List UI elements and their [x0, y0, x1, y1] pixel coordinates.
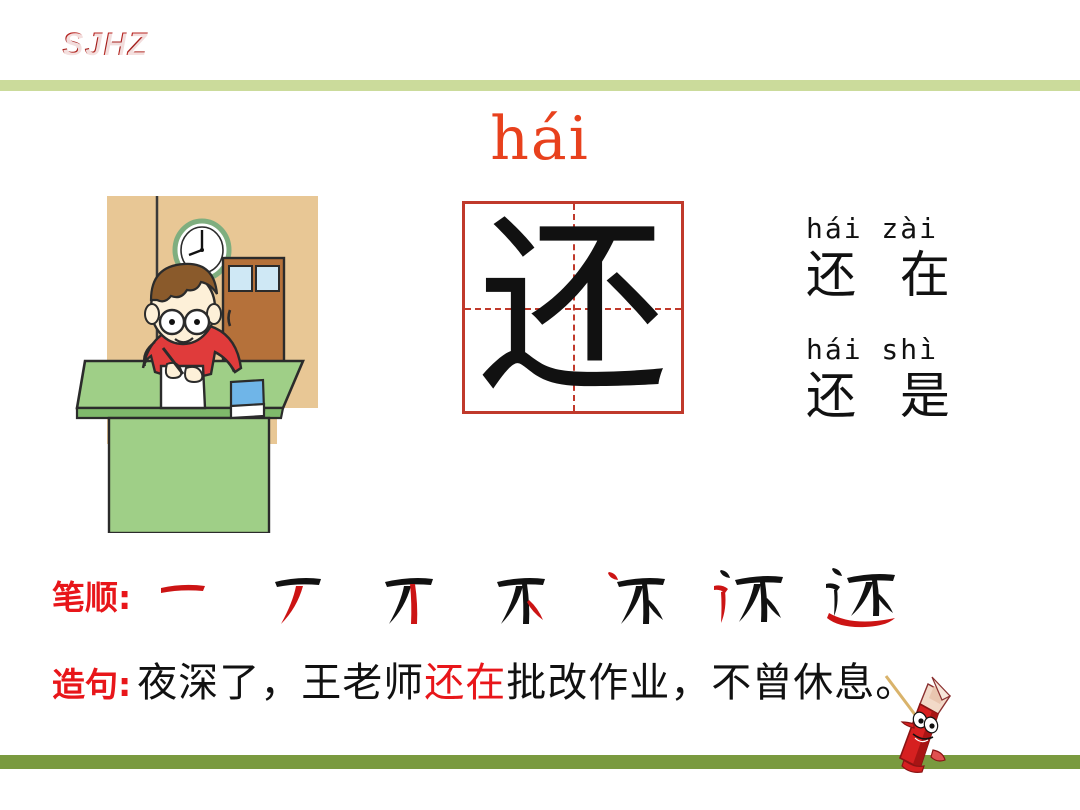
vocabulary-item: hái zài 还 在 — [806, 212, 1074, 305]
vocabulary-pinyin: hái zài — [806, 212, 1074, 245]
stroke-order-section: 笔顺: — [52, 560, 1052, 630]
illustration-boy-writing — [71, 196, 318, 533]
stroke-order-steps — [141, 560, 925, 630]
main-character: 还 — [465, 204, 681, 411]
sentence-highlight-word: 还在 — [424, 660, 506, 706]
vocabulary-word: 还 在 — [806, 247, 1074, 305]
vocabulary-pinyin: hái shì — [806, 333, 1074, 366]
stroke-step-1 — [141, 560, 253, 630]
slide-header: SJHZ — [0, 0, 1080, 92]
stroke-order-label: 笔顺: — [52, 571, 131, 619]
brand-logo: SJHZ — [62, 26, 148, 63]
page-title-pinyin: hái — [0, 104, 1080, 174]
pencil-mascot-icon — [880, 672, 1000, 792]
stroke-step-4 — [477, 560, 589, 630]
header-divider-bar — [0, 80, 1080, 91]
sentence-part-before: 夜深了，王老师 — [137, 660, 424, 706]
vocabulary-word: 还 是 — [806, 368, 1074, 426]
stroke-step-3 — [365, 560, 477, 630]
stroke-step-6 — [701, 560, 813, 630]
sentence-part-after: 批改作业，不曾休息。 — [506, 660, 916, 706]
vocabulary-list: hái zài 还 在 hái shì 还 是 — [806, 212, 1074, 453]
character-grid-box: 还 — [462, 201, 684, 414]
example-sentence-label: 造句: — [52, 658, 131, 706]
stroke-step-5 — [589, 560, 701, 630]
stroke-step-2 — [253, 560, 365, 630]
stroke-step-7 — [813, 560, 925, 630]
example-sentence-text: 夜深了，王老师还在批改作业，不曾休息。 — [137, 650, 916, 708]
vocabulary-item: hái shì 还 是 — [806, 333, 1074, 426]
